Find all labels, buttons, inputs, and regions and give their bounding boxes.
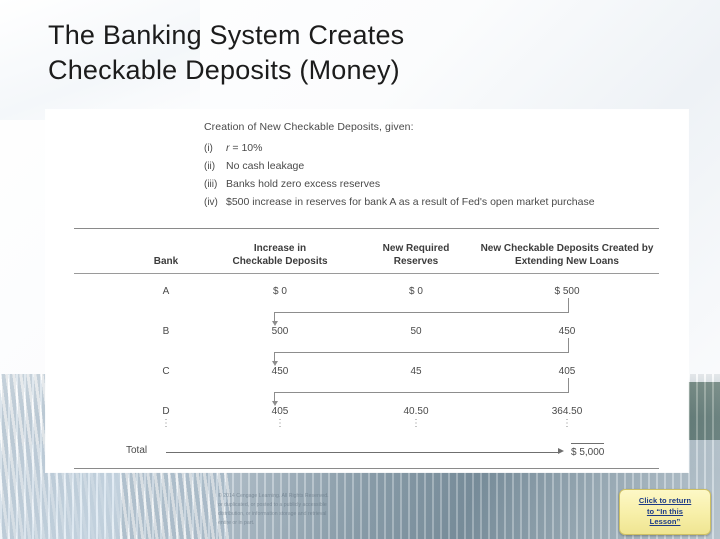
given-item-4: (iv) $500 increase in reserves for bank …: [204, 197, 674, 209]
page-title-line-2: Checkable Deposits (Money): [48, 53, 568, 88]
given-item-3: (iii) Banks hold zero excess reserves: [204, 179, 674, 191]
column-header-required-reserves: New Required Reserves: [352, 243, 480, 268]
table-row: D: [136, 406, 196, 417]
cell-reserves-a: $ 0: [352, 286, 480, 297]
return-label-line-3: Lesson”: [650, 517, 681, 526]
given-text-2: No cash leakage: [226, 161, 304, 173]
table-header-row: Bank Increase in Checkable Deposits New …: [74, 229, 659, 273]
cell-deposits-a: $ 0: [210, 286, 350, 297]
table-row: B: [136, 326, 196, 337]
column-header-increase-deposits-line-2: Checkable Deposits: [210, 256, 350, 269]
given-numeral-3: (iii): [204, 179, 226, 191]
given-item-2: (ii) No cash leakage: [204, 161, 674, 173]
column-header-new-loans-line-1: New Checkable Deposits Created by: [472, 243, 662, 256]
cell-loans-c: 405: [472, 366, 662, 377]
page-title-line-1: The Banking System Creates: [48, 18, 568, 53]
column-header-increase-deposits: Increase in Checkable Deposits: [210, 243, 350, 268]
given-numeral-4: (iv): [204, 197, 226, 209]
cell-loans-d: 364.50: [472, 406, 662, 417]
given-text-4: $500 increase in reserves for bank A as …: [226, 197, 595, 209]
copyright-line-4: entire or in part.: [218, 519, 368, 528]
column-header-new-loans-line-2: Extending New Loans: [472, 256, 662, 269]
return-label-line-2: to “In this: [647, 507, 683, 516]
total-arrow-head: [558, 448, 564, 454]
cell-deposits-b: 500: [210, 326, 350, 337]
table-total-row: Total $ 5,000: [74, 434, 659, 468]
cell-reserves-d: 40.50: [352, 406, 480, 417]
cell-deposits-d: 405: [210, 406, 350, 417]
column-header-required-reserves-line-2: Reserves: [352, 256, 480, 269]
ellipsis-bank: ⋮: [136, 420, 196, 428]
return-to-lesson-button[interactable]: Click to returnto “In thisLesson”: [619, 489, 711, 535]
copyright-watermark: © 2014 Cengage Learning. All Rights Rese…: [218, 492, 368, 528]
column-header-increase-deposits-line-1: Increase in: [210, 243, 350, 256]
copyright-line-3: distribution, or information storage and…: [218, 510, 368, 519]
column-header-bank: Bank: [136, 256, 196, 269]
column-header-required-reserves-line-1: New Required: [352, 243, 480, 256]
page-title: The Banking System Creates Checkable Dep…: [48, 18, 568, 87]
table-row: C: [136, 366, 196, 377]
given-numeral-1: (i): [204, 143, 226, 155]
copyright-line-1: © 2014 Cengage Learning. All Rights Rese…: [218, 492, 368, 501]
givens-block: Creation of New Checkable Deposits, give…: [204, 122, 674, 215]
cell-loans-b: 450: [472, 326, 662, 337]
ellipsis-reserves: ⋮: [352, 420, 480, 428]
ellipsis-deposits: ⋮: [210, 420, 350, 428]
cell-deposits-c: 450: [210, 366, 350, 377]
return-to-lesson-button-label: Click to returnto “In thisLesson”: [639, 496, 691, 529]
table-body: A $ 0 $ 0 $ 500 B 500 50 450: [74, 274, 659, 434]
total-arrow-shaft: [166, 452, 558, 453]
cell-reserves-b: 50: [352, 326, 480, 337]
given-text-1: r = 10%: [226, 143, 262, 155]
cell-reserves-c: 45: [352, 366, 480, 377]
column-header-new-loans: New Checkable Deposits Created by Extend…: [472, 243, 662, 268]
givens-heading: Creation of New Checkable Deposits, give…: [204, 122, 674, 134]
table-bottom-rule: [74, 468, 659, 469]
given-1-rest: = 10%: [230, 142, 263, 154]
copyright-line-2: or duplicated, or posted to a publicly a…: [218, 501, 368, 510]
given-numeral-2: (ii): [204, 161, 226, 173]
given-text-3: Banks hold zero excess reserves: [226, 179, 380, 191]
deposit-expansion-table: Bank Increase in Checkable Deposits New …: [74, 228, 659, 469]
total-label: Total: [126, 445, 147, 456]
given-item-1: (i) r = 10%: [204, 143, 674, 155]
table-row: A: [136, 286, 196, 297]
return-label-line-1: Click to return: [639, 496, 691, 505]
content-panel: Creation of New Checkable Deposits, give…: [46, 110, 688, 472]
cell-loans-a: $ 500: [472, 286, 662, 297]
slide-canvas: 1,250 DJIA +0.42% NASDAQ +1.08 S&P 500 -…: [0, 0, 720, 539]
total-value: $ 5,000: [571, 443, 604, 458]
ellipsis-loans: ⋮: [472, 420, 662, 428]
